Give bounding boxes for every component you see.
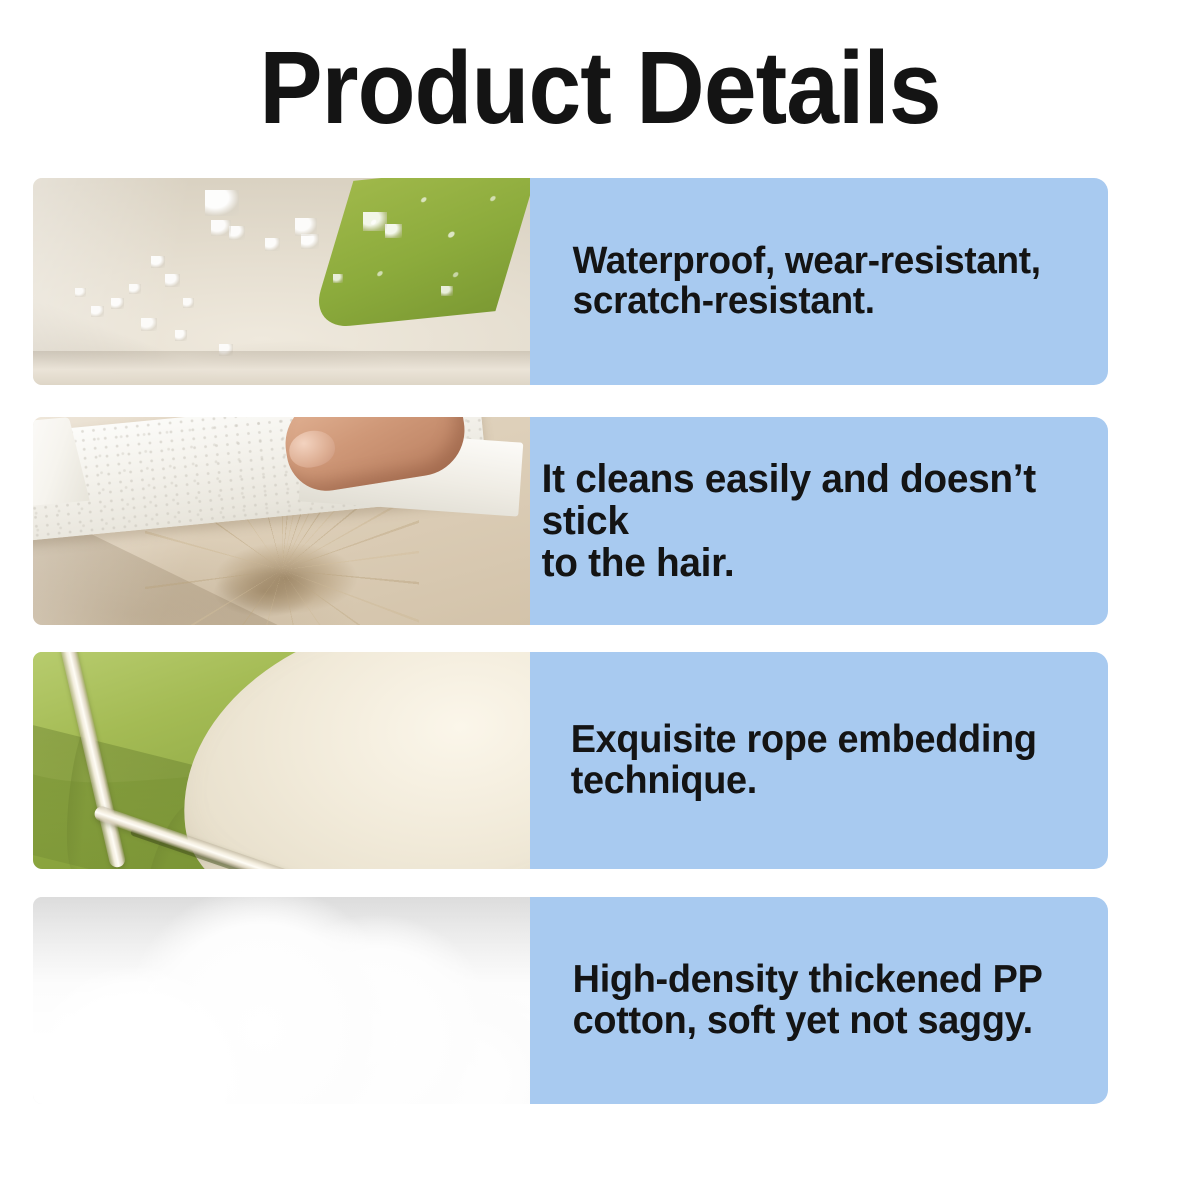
- feature-caption-text: Waterproof, wear-resistant, scratch-resi…: [530, 242, 1041, 322]
- pet-hair-clump: [179, 511, 385, 623]
- feature-row-rope-embedding: Exquisite rope embedding technique.: [33, 652, 1108, 869]
- feature-caption-panel-easy-clean: It cleans easily and doesn’t stick to th…: [530, 417, 1108, 625]
- feature-caption-text: High-density thickened PP cotton, soft y…: [530, 960, 1043, 1042]
- page-title: Product Details: [48, 36, 1152, 139]
- paper-towel-wiping-pet-hair-photo: [33, 417, 530, 625]
- green-bolster-cream-cushion-piping-photo: [33, 652, 530, 869]
- feature-caption-panel-pp-cotton: High-density thickened PP cotton, soft y…: [530, 897, 1108, 1104]
- fabric-bottom-edge: [33, 351, 530, 385]
- feature-row-waterproof: Waterproof, wear-resistant, scratch-resi…: [33, 178, 1108, 385]
- white-pp-cotton-fill-photo: [33, 897, 530, 1104]
- feature-caption-panel-waterproof: Waterproof, wear-resistant, scratch-resi…: [530, 178, 1108, 385]
- feature-caption-text: It cleans easily and doesn’t stick to th…: [530, 458, 1091, 584]
- feature-caption-panel-rope-embedding: Exquisite rope embedding technique.: [530, 652, 1108, 869]
- feature-caption-text: Exquisite rope embedding technique.: [530, 720, 1037, 802]
- waterproof-fabric-water-droplets-photo: [33, 178, 530, 385]
- feature-row-easy-clean: It cleans easily and doesn’t stick to th…: [33, 417, 1108, 625]
- cotton-fill-pile: [33, 897, 530, 1104]
- feature-row-pp-cotton: High-density thickened PP cotton, soft y…: [33, 897, 1108, 1104]
